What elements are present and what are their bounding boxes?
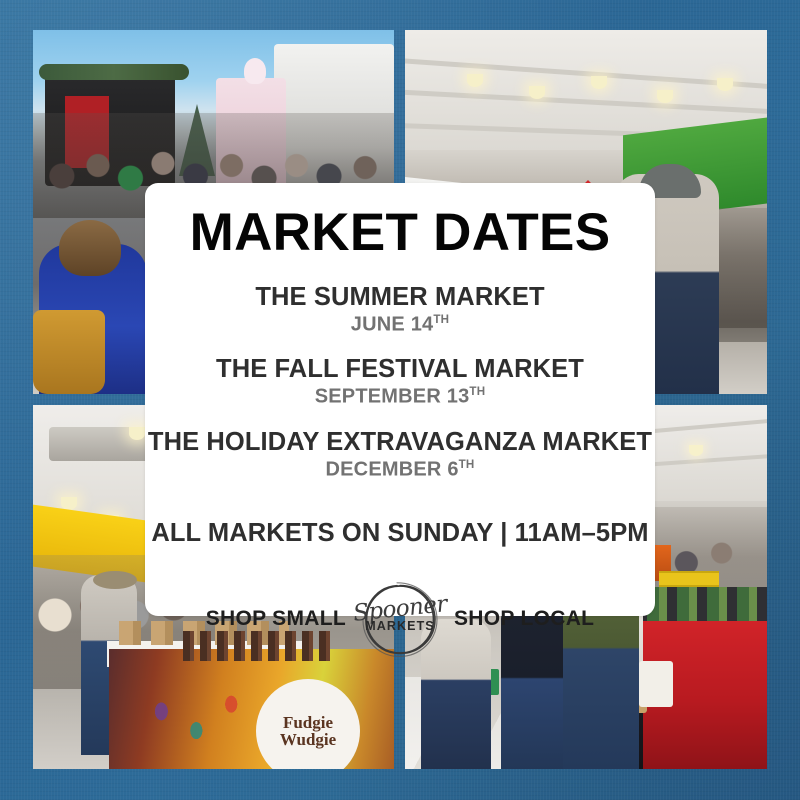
ceiling-light <box>657 90 673 103</box>
event-entry-fall: THE FALL FESTIVAL MARKET SEPTEMBER 13TH <box>216 356 584 407</box>
event-date-day: 13 <box>447 386 470 408</box>
handbag-shape <box>33 310 105 394</box>
market-dates-poster: Fudgie Wudgie <box>0 0 800 800</box>
vendor-sign-line1: Fudgie <box>283 714 333 731</box>
event-date-ordinal: TH <box>469 385 485 398</box>
event-date-month: SEPTEMBER <box>315 386 447 408</box>
event-date: JUNE 14TH <box>255 314 544 336</box>
ceiling-light <box>717 78 733 91</box>
garland-decor <box>39 64 189 80</box>
event-entry-summer: THE SUMMER MARKET JUNE 14TH <box>255 284 544 335</box>
event-date: SEPTEMBER 13TH <box>216 386 584 408</box>
shopper-hair <box>59 220 121 276</box>
event-date-ordinal: TH <box>459 458 475 471</box>
info-card: MARKET DATES THE SUMMER MARKET JUNE 14TH… <box>145 183 655 616</box>
event-date: DECEMBER 6TH <box>148 459 652 481</box>
shop-local-label: SHOP LOCAL <box>454 607 594 631</box>
page-title: MARKET DATES <box>190 206 611 259</box>
vendor-sign-line2: Wudgie <box>280 731 336 748</box>
tote-bag <box>639 661 673 707</box>
event-name: THE FALL FESTIVAL MARKET <box>216 356 584 383</box>
ice-cream-cone-topper <box>244 58 266 84</box>
spooner-markets-logo: Spooner MARKETS <box>350 569 450 669</box>
logo-sub-text: MARKETS <box>350 619 450 633</box>
event-date-day: 14 <box>411 313 434 335</box>
ceiling-light <box>467 74 483 87</box>
ceiling-light <box>591 76 607 89</box>
hours-line: ALL MARKETS ON SUNDAY | 11AM–5PM <box>151 519 648 548</box>
event-date-month: JUNE <box>351 313 411 335</box>
event-date-ordinal: TH <box>433 313 449 326</box>
event-date-month: DECEMBER <box>326 458 448 480</box>
ceiling-light <box>529 86 545 99</box>
footer-slogan-row: SHOP SMALL Spooner MARKETS SHOP LOCAL <box>206 569 595 669</box>
event-entry-holiday: THE HOLIDAY EXTRAVAGANZA MARKET DECEMBER… <box>148 429 652 480</box>
event-name: THE HOLIDAY EXTRAVAGANZA MARKET <box>148 429 652 456</box>
shop-small-label: SHOP SMALL <box>206 607 346 631</box>
event-date-day: 6 <box>447 458 458 480</box>
sun-hat <box>93 571 137 589</box>
ceiling-light <box>129 427 145 440</box>
event-name: THE SUMMER MARKET <box>255 284 544 311</box>
ceiling-light <box>689 445 703 456</box>
